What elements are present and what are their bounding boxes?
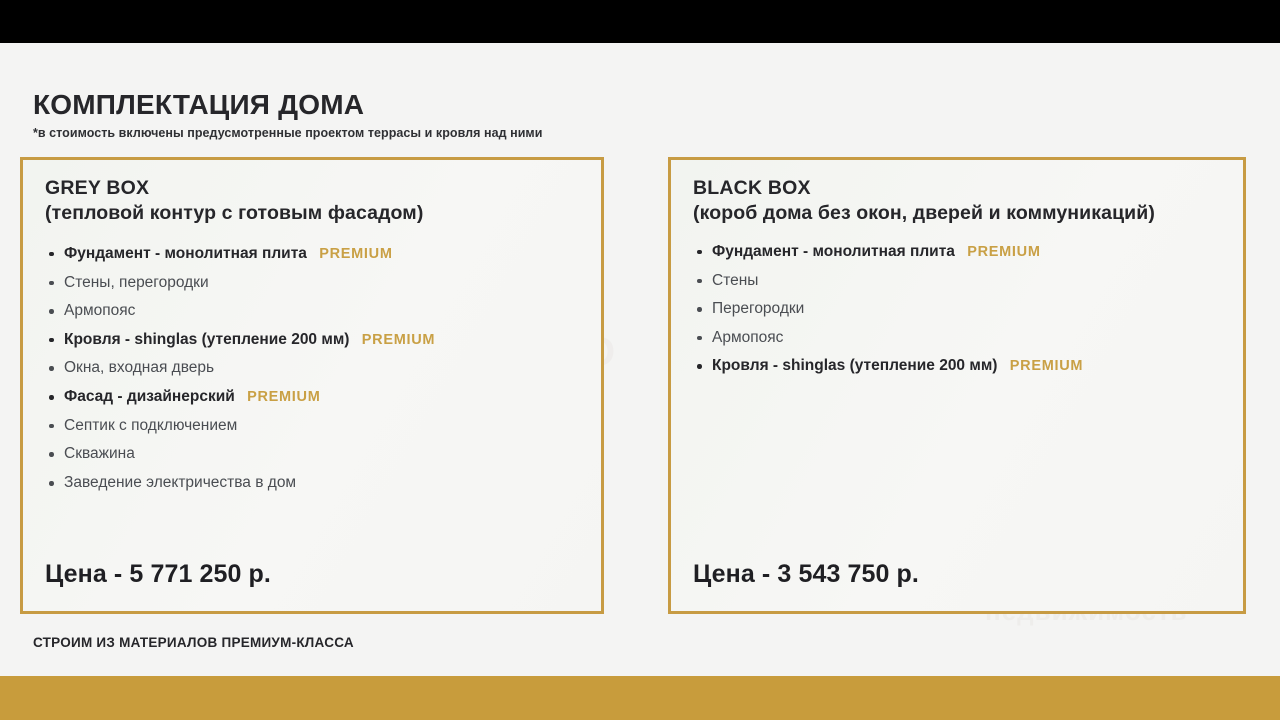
package-card-black-box: BLACK BOX (короб дома без окон, дверей и… [668, 157, 1246, 614]
list-item: Заведение электричества в дом [45, 473, 579, 493]
feature-text: Скважина [64, 445, 135, 462]
feature-text: Стены, перегородки [64, 274, 209, 291]
list-item: Кровля - shinglas (утепление 200 мм) PRE… [45, 330, 579, 350]
list-item: Армопояс [693, 328, 1221, 348]
premium-badge: PREMIUM [362, 332, 435, 348]
premium-badge: PREMIUM [1010, 358, 1083, 374]
package-price-grey-box: Цена - 5 771 250 р. [45, 560, 579, 589]
list-item: Скважина [45, 444, 579, 464]
list-item: Фасад - дизайнерский PREMIUM [45, 387, 579, 407]
feature-list-grey-box: Фундамент - монолитная плита PREMIUM Сте… [45, 244, 579, 502]
list-item: Фундамент - монолитная плита PREMIUM [45, 244, 579, 264]
list-item: Кровля - shinglas (утепление 200 мм) PRE… [693, 356, 1221, 376]
list-item: Стены, перегородки [45, 273, 579, 293]
page-subtitle: *в стоимость включены предусмотренные пр… [33, 126, 1243, 140]
feature-list-black-box: Фундамент - монолитная плита PREMIUM Сте… [693, 242, 1221, 385]
slide-root: АВИТО Авито недвижимость КОМПЛЕКТАЦИЯ ДО… [0, 0, 1280, 720]
top-black-bar [0, 0, 1280, 43]
package-heading-grey-box: GREY BOX (тепловой контур с готовым фаса… [45, 176, 579, 226]
feature-text: Заведение электричества в дом [64, 474, 296, 491]
feature-text: Фундамент - монолитная плита [712, 243, 955, 260]
package-name-grey-box: GREY BOX [45, 176, 579, 201]
feature-text: Стены [712, 272, 758, 289]
footer-caption: СТРОИМ ИЗ МАТЕРИАЛОВ ПРЕМИУМ-КЛАССА [33, 635, 354, 650]
premium-badge: PREMIUM [247, 389, 320, 405]
feature-text: Армопояс [64, 302, 135, 319]
package-heading-black-box: BLACK BOX (короб дома без окон, дверей и… [693, 176, 1221, 226]
feature-text: Окна, входная дверь [64, 359, 214, 376]
package-name-black-box: BLACK BOX [693, 176, 1221, 201]
list-item: Перегородки [693, 299, 1221, 319]
feature-text: Кровля - shinglas (утепление 200 мм) [712, 357, 997, 374]
feature-text: Перегородки [712, 300, 804, 317]
page-title: КОМПЛЕКТАЦИЯ ДОМА [33, 90, 1243, 119]
premium-badge: PREMIUM [967, 244, 1040, 260]
feature-text: Армопояс [712, 329, 783, 346]
list-item: Фундамент - монолитная плита PREMIUM [693, 242, 1221, 262]
bottom-gold-bar [0, 676, 1280, 720]
list-item: Стены [693, 271, 1221, 291]
package-card-grey-box: GREY BOX (тепловой контур с готовым фаса… [20, 157, 604, 614]
slide-header: КОМПЛЕКТАЦИЯ ДОМА *в стоимость включены … [33, 90, 1243, 140]
feature-text: Фасад - дизайнерский [64, 388, 235, 405]
feature-text: Фундамент - монолитная плита [64, 245, 307, 262]
list-item: Септик с подключением [45, 416, 579, 436]
package-price-black-box: Цена - 3 543 750 р. [693, 560, 1221, 589]
premium-badge: PREMIUM [319, 246, 392, 262]
package-description-grey-box: (тепловой контур с готовым фасадом) [45, 201, 579, 226]
feature-text: Септик с подключением [64, 417, 237, 434]
feature-text: Кровля - shinglas (утепление 200 мм) [64, 331, 349, 348]
package-description-black-box: (короб дома без окон, дверей и коммуника… [693, 201, 1221, 226]
list-item: Армопояс [45, 301, 579, 321]
list-item: Окна, входная дверь [45, 358, 579, 378]
